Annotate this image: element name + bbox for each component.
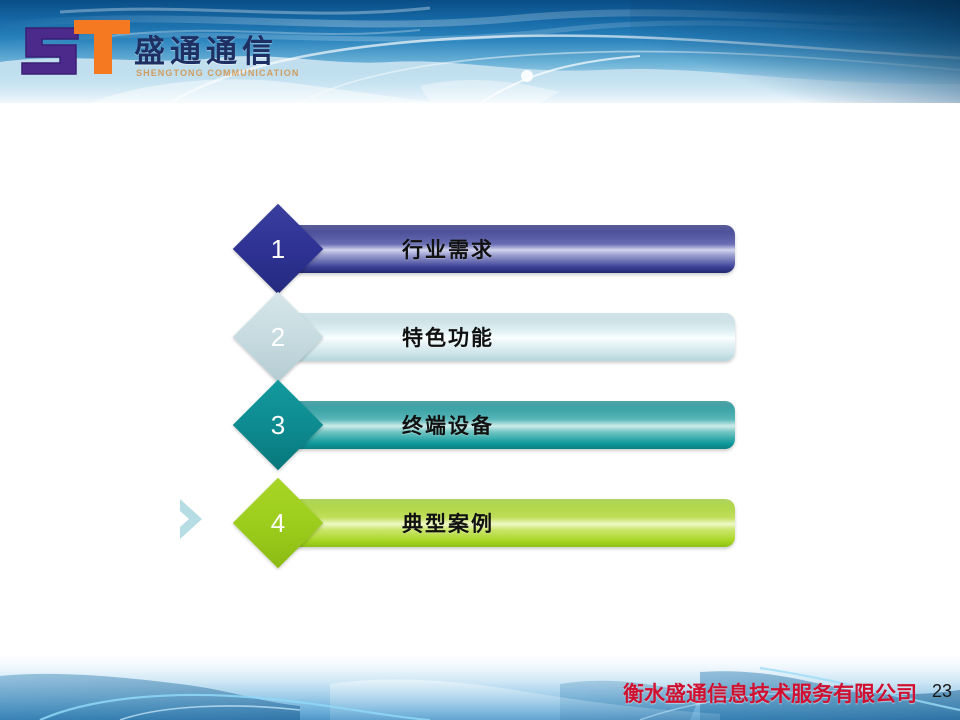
agenda-bar-3[interactable]: 终端设备 — [288, 401, 735, 449]
agenda-label-3: 终端设备 — [288, 401, 608, 449]
agenda-item-2[interactable]: 特色功能 2 — [0, 293, 960, 383]
agenda-number-2: 2 — [246, 305, 310, 369]
agenda-list: 行业需求 1 特色功能 2 终端设备 3 — [0, 0, 960, 720]
agenda-number-4: 4 — [246, 491, 310, 555]
agenda-item-1[interactable]: 行业需求 1 — [0, 205, 960, 295]
slide-canvas: 盛通通信 SHENGTONG COMMUNICATION 行业需求 1 特色功能… — [0, 0, 960, 720]
agenda-bar-1[interactable]: 行业需求 — [288, 225, 735, 273]
footer-company-name: 衡水盛通信息技术服务有限公司 — [623, 678, 917, 708]
slide-number: 23 — [932, 681, 952, 702]
agenda-bar-4[interactable]: 典型案例 — [288, 499, 735, 547]
agenda-item-3[interactable]: 终端设备 3 — [0, 381, 960, 471]
footer-banner: 衡水盛通信息技术服务有限公司 — [0, 654, 960, 720]
agenda-item-4[interactable]: 典型案例 4 — [0, 479, 960, 569]
agenda-label-1: 行业需求 — [288, 225, 608, 273]
chevron-right-icon — [176, 497, 208, 541]
agenda-number-3: 3 — [246, 393, 310, 457]
agenda-number-1: 1 — [246, 217, 310, 281]
agenda-label-2: 特色功能 — [288, 313, 608, 361]
agenda-label-4: 典型案例 — [288, 499, 608, 547]
agenda-bar-2[interactable]: 特色功能 — [288, 313, 735, 361]
